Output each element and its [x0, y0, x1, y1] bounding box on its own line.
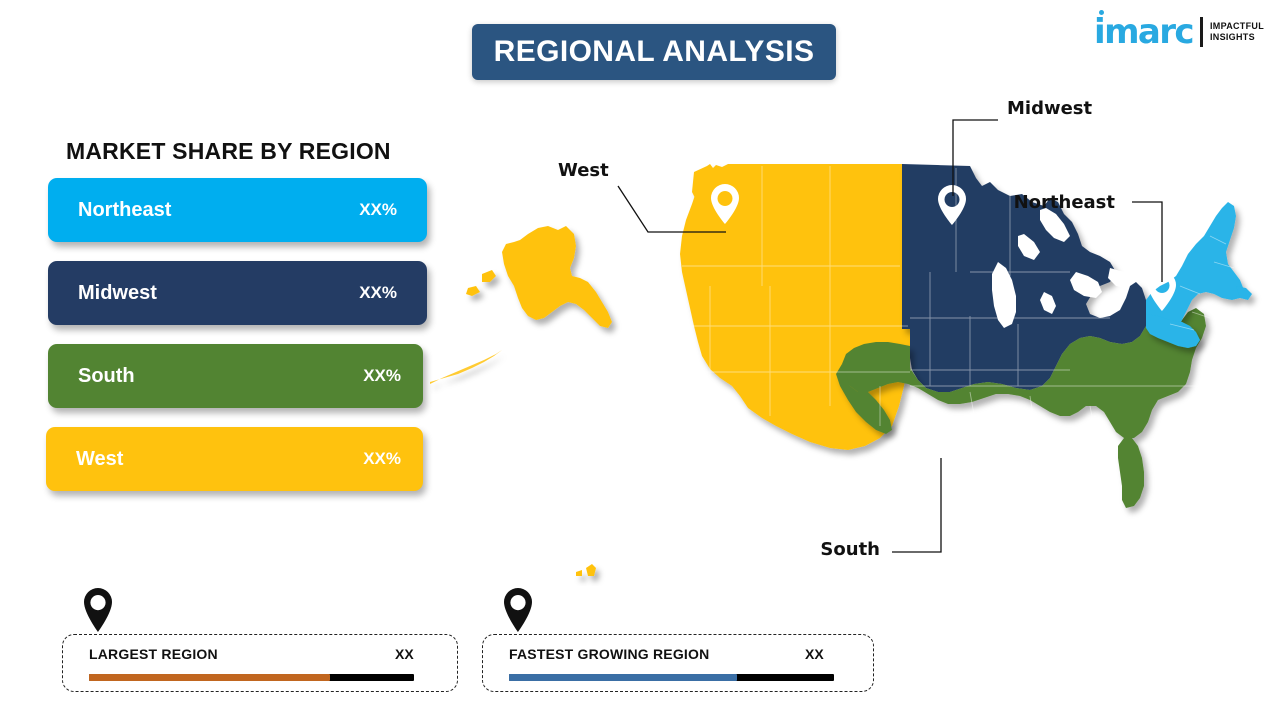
market-share-bar-northeast[interactable]: Northeast XX%	[48, 178, 427, 242]
map-label-south: South	[820, 539, 880, 560]
logo-tagline-line1: IMPACTFUL	[1210, 21, 1264, 31]
stat-label: FASTEST GROWING REGION	[509, 646, 709, 662]
market-share-bar-south[interactable]: South XX%	[48, 344, 423, 408]
stat-progress-fill	[509, 674, 737, 681]
map-label-midwest: Midwest	[1007, 98, 1092, 119]
logo-tagline: IMPACTFUL INSIGHTS	[1210, 21, 1264, 43]
slide-root: REGIONAL ANALYSIS imarc IMPACTFUL INSIGH…	[0, 0, 1280, 720]
bar-label: West	[76, 448, 123, 471]
logo-tagline-line2: INSIGHTS	[1210, 32, 1255, 42]
fastest-growing-region-card[interactable]: FASTEST GROWING REGION XX	[482, 634, 874, 692]
imarc-logo: imarc IMPACTFUL INSIGHTS	[1094, 10, 1264, 54]
stat-progress-fill	[89, 674, 330, 681]
page-title: REGIONAL ANALYSIS	[472, 24, 836, 80]
us-map-svg	[410, 86, 1280, 586]
market-share-bar-west[interactable]: West XX%	[46, 427, 423, 491]
logo-divider	[1200, 17, 1203, 47]
largest-region-card[interactable]: LARGEST REGION XX	[62, 634, 458, 692]
market-share-heading: MARKET SHARE BY REGION	[66, 138, 391, 165]
bar-label: Northeast	[78, 199, 171, 222]
bar-label: Midwest	[78, 282, 157, 305]
stat-progress-track	[89, 674, 414, 681]
bar-value: XX%	[363, 366, 401, 386]
stat-value: XX	[805, 646, 824, 662]
leader-line-northeast	[1132, 202, 1162, 282]
stat-progress-track	[509, 674, 834, 681]
location-pin-icon	[501, 587, 535, 633]
logo-dot-icon	[1099, 10, 1104, 15]
market-share-bar-list: Northeast XX% Midwest XX% South XX% West…	[0, 178, 440, 510]
bar-value: XX%	[359, 200, 397, 220]
location-pin-icon	[81, 587, 115, 633]
stat-label: LARGEST REGION	[89, 646, 218, 662]
leader-line-south	[892, 458, 941, 552]
stat-value: XX	[395, 646, 414, 662]
bar-value: XX%	[363, 449, 401, 469]
bar-value: XX%	[359, 283, 397, 303]
map-label-west: West	[558, 160, 609, 181]
logo-wordmark-text: imarc	[1094, 12, 1193, 52]
logo-wordmark: imarc	[1094, 15, 1193, 49]
bar-label: South	[78, 365, 135, 388]
us-regional-map: West Midwest Northeast South	[410, 86, 1280, 586]
page-title-text: REGIONAL ANALYSIS	[494, 35, 815, 69]
market-share-bar-midwest[interactable]: Midwest XX%	[48, 261, 427, 325]
map-label-northeast: Northeast	[1014, 192, 1115, 213]
